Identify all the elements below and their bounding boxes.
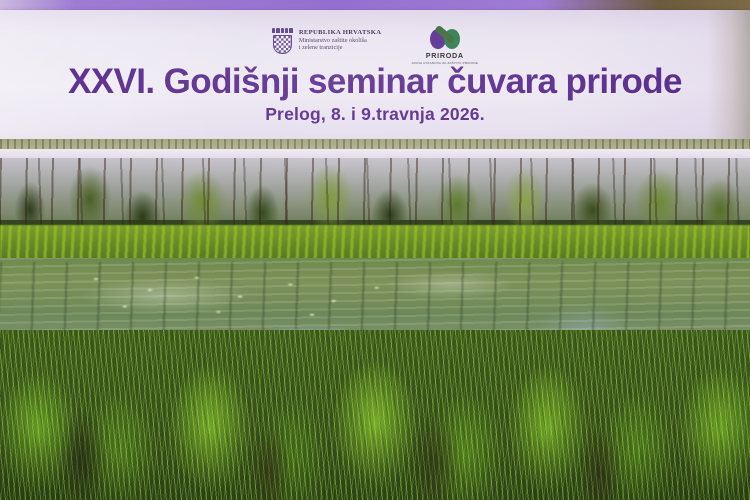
croatian-coat-of-arms-icon [272, 28, 293, 54]
ministry-line-3: i zelene tranzicije [299, 44, 382, 51]
priroda-wordmark: PRIRODA [426, 51, 464, 60]
coat-of-arms-shield [273, 35, 292, 54]
government-logo-text: REPUBLIKA HRVATSKA Ministarstvo zaštite … [299, 28, 382, 51]
seminar-dateline: Prelog, 8. i 9.travnja 2026. [0, 104, 750, 125]
priroda-logo-icon [430, 28, 460, 50]
projected-slide-photo: REPUBLIKA HRVATSKA Ministarstvo zaštite … [0, 0, 750, 500]
logo-row: REPUBLIKA HRVATSKA Ministarstvo zaštite … [0, 28, 750, 64]
seminar-headline: XXVI. Godišnji seminar čuvara prirode [0, 62, 750, 102]
banner-bottom-white-band [0, 149, 750, 158]
government-logo: REPUBLIKA HRVATSKA Ministarstvo zaštite … [272, 28, 382, 54]
priroda-logo: PRIRODA JAVNA USTANOVA ZA ZAŠTITU PRIROD… [411, 28, 478, 65]
ministry-line-2: Ministarstvo zaštite okoliša [299, 37, 382, 44]
coat-of-arms-crown [272, 28, 293, 34]
ministry-line-1: REPUBLIKA HRVATSKA [299, 29, 382, 37]
